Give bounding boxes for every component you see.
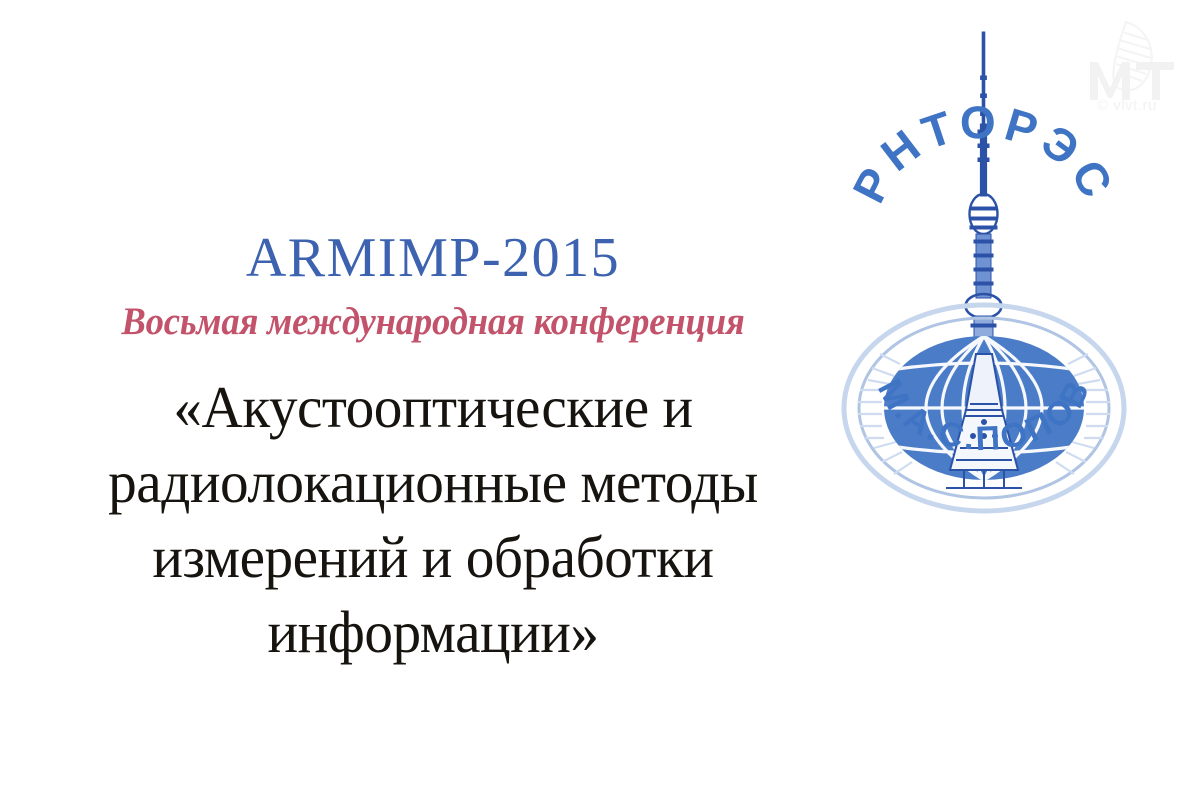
conference-title: «Акустооптические и радиолокационные мет… — [0, 370, 866, 670]
title-line-3: измерений и обработки — [13, 520, 853, 595]
ostankino-tower-icon — [966, 32, 1002, 376]
conference-acronym: ARMIMP-2015 — [0, 228, 866, 288]
title-line-4: информации» — [13, 595, 853, 670]
poster-canvas: © vlvt.ru ARMIMP-2015 Восьмая международ… — [0, 0, 1200, 800]
title-line-2: радиолокационные методы — [13, 445, 853, 520]
title-line-1: «Акустооптические и — [13, 370, 853, 445]
poster-text-block: ARMIMP-2015 Восьмая международная конфер… — [0, 0, 866, 800]
rntores-logo: РНТОРЭС ИМ.А.С.ПОПОВА — [838, 18, 1130, 518]
conference-subtitle: Восьмая международная конференция — [26, 300, 840, 344]
